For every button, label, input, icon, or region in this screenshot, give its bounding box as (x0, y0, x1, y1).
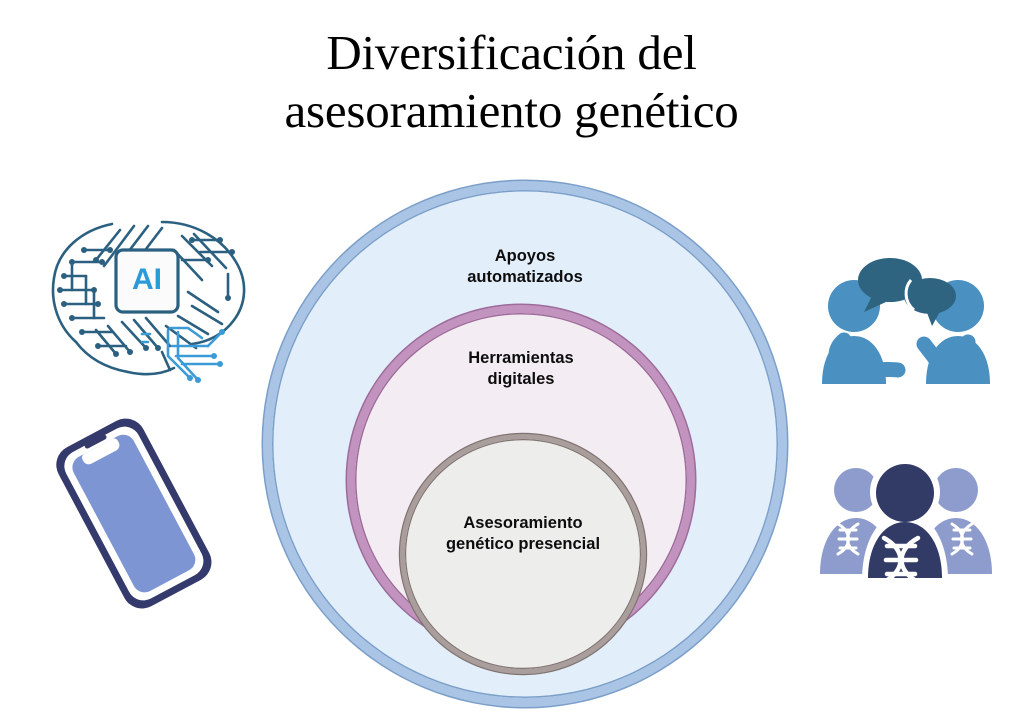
ai-brain-circuit-icon: AI (42, 206, 262, 396)
page-title-line-1: Diversificación del (0, 24, 1023, 82)
circle-inner-asesoramiento-presencial: Asesoramiento genético presencial (400, 434, 646, 674)
circle-middle-label: Herramientas digitales (355, 348, 687, 390)
circle-inner-label-line-1: Asesoramiento (405, 513, 641, 534)
ai-chip-label: AI (132, 263, 162, 296)
page-title-line-2: asesoramiento genético (0, 82, 1023, 140)
people-group-dna-icon (806, 450, 1004, 602)
circle-inner-label-line-2: genético presencial (405, 534, 641, 555)
circle-inner-label: Asesoramiento genético presencial (405, 513, 641, 555)
circle-middle-label-line-2: digitales (355, 369, 687, 390)
circle-outer-label-line-2: automatizados (272, 267, 778, 288)
two-people-talking-icon (806, 258, 1004, 400)
smartphone-icon (44, 408, 222, 620)
circle-middle-label-line-1: Herramientas (355, 348, 687, 369)
page-title: Diversificación del asesoramiento genéti… (0, 24, 1023, 140)
circle-outer-label: Apoyos automatizados (272, 246, 778, 288)
circle-outer-label-line-1: Apoyos (272, 246, 778, 267)
concentric-circles-diagram: Apoyos automatizados Herramientas digita… (263, 181, 787, 707)
